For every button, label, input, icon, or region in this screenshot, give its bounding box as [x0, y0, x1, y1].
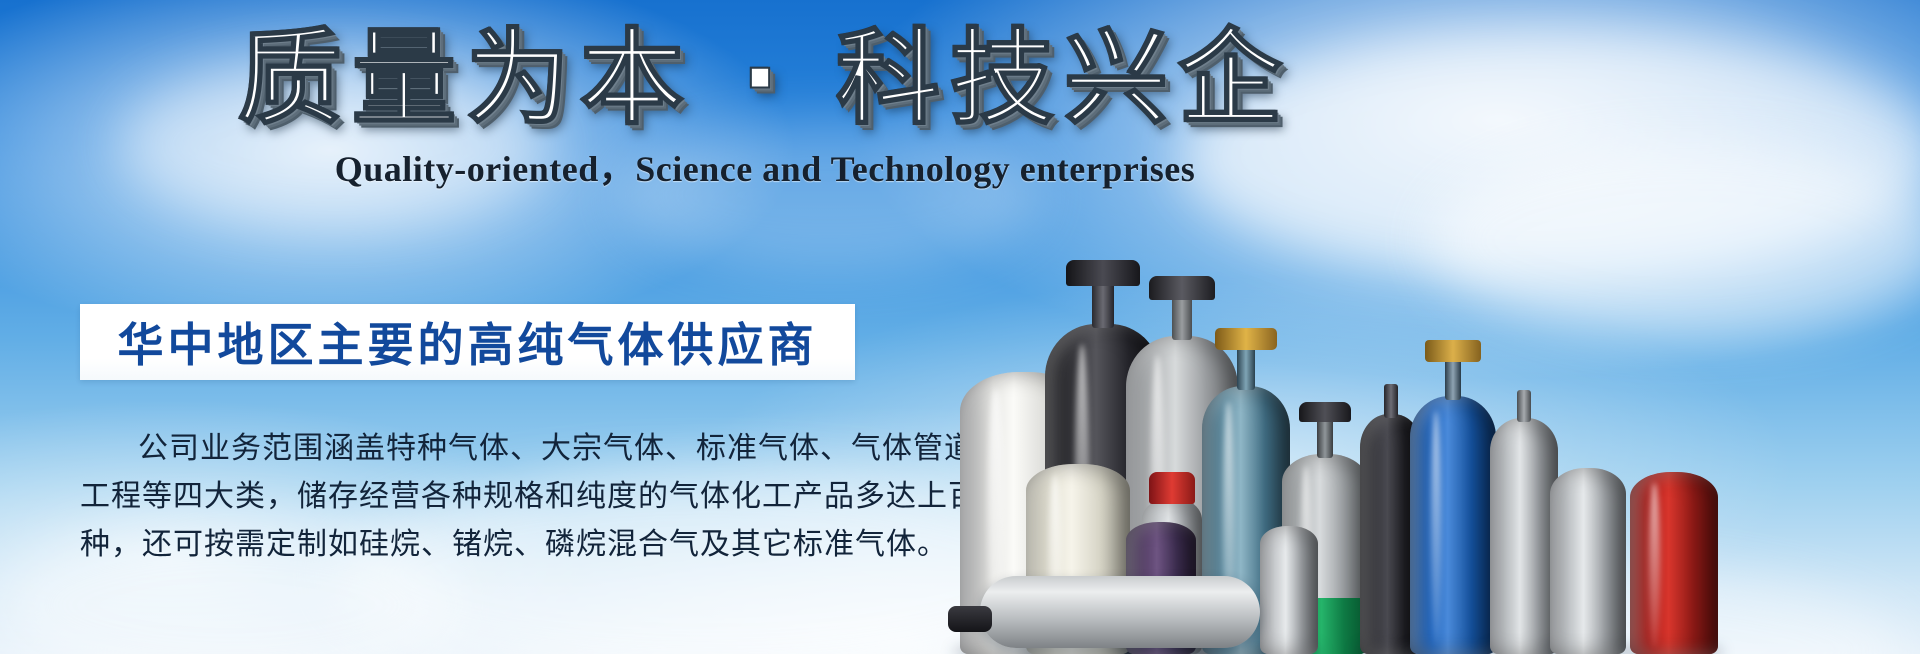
aluminium-cylinder — [1260, 526, 1318, 654]
dark-red-cylinder — [1630, 472, 1718, 654]
paragraph-line-1: 公司业务范围涵盖特种气体、大宗气体、标准气体、气体管道 — [80, 425, 870, 473]
banner-paragraph: 公司业务范围涵盖特种气体、大宗气体、标准气体、气体管道 工程等四大类，储存经营各… — [80, 425, 870, 569]
aluminium-cylinder — [1550, 468, 1626, 654]
paragraph-line-3: 种，还可按需定制如硅烷、锗烷、磷烷混合气及其它标准气体。 — [80, 521, 870, 569]
highlight-box: 华中地区主要的高纯气体供应商 — [80, 304, 855, 380]
cylinder-valve — [1215, 328, 1277, 350]
highlight-box-text: 华中地区主要的高纯气体供应商 — [80, 304, 855, 380]
cylinder-cap — [1066, 260, 1140, 286]
lying-cylinder-valve — [948, 606, 992, 632]
paragraph-line-2: 工程等四大类，储存经营各种规格和纯度的气体化工产品多达上百 — [80, 473, 870, 521]
banner-hero: 质量为本 · 科技兴企 Quality-oriented，Science and… — [0, 0, 1920, 654]
banner-headline: 质量为本 · 科技兴企 — [0, 22, 1530, 134]
gas-cylinders-photo — [930, 130, 1920, 654]
aluminium-cylinder — [1490, 418, 1558, 654]
blue-cylinder — [1410, 396, 1496, 654]
lying-grey-cylinder — [980, 576, 1260, 648]
